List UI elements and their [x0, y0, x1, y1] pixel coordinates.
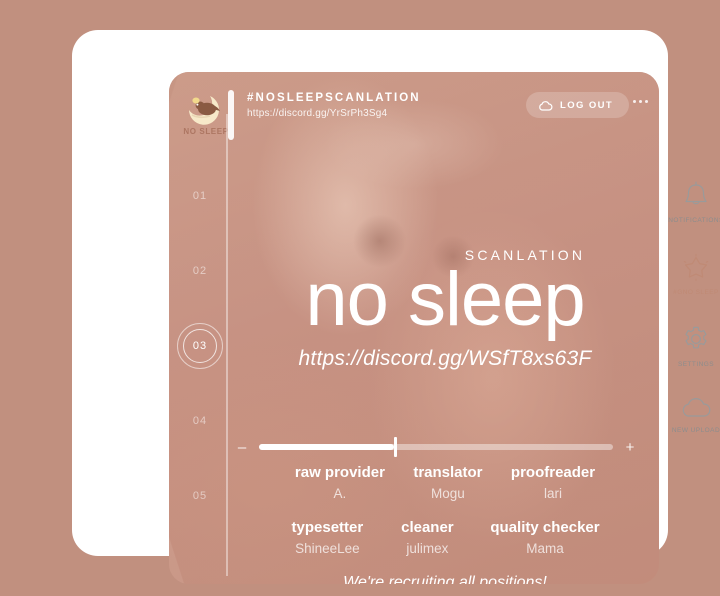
- tool-label: NEW UPLOAD: [672, 427, 720, 434]
- credit-name: Mogu: [411, 486, 485, 501]
- slider-decrease-button[interactable]: –: [235, 439, 249, 456]
- moon-character-logo-icon: [183, 92, 229, 126]
- channel-url[interactable]: https://discord.gg/YrSrPh3Sg4: [247, 108, 421, 119]
- step-ring-inner: [183, 329, 217, 363]
- credit-row: raw provider A. translator Mogu proofrea…: [231, 464, 659, 501]
- recruiting-emphasis[interactable]: all positions!: [459, 574, 547, 584]
- app-card: NO SLEEP #NOSLEEPSCANLATION https://disc…: [72, 30, 668, 556]
- credit-role: proofreader: [511, 464, 595, 481]
- slider-increase-button[interactable]: +: [623, 439, 637, 456]
- step-item-04[interactable]: 04: [169, 401, 231, 441]
- tool-item-notifications[interactable]: NOTIFICATIONS: [660, 180, 720, 224]
- gear-icon: [681, 324, 711, 354]
- step-number: 05: [193, 490, 207, 502]
- credits-section: raw provider A. translator Mogu proofrea…: [231, 464, 659, 584]
- hero-content: SCANLATION no sleep https://discord.gg/W…: [231, 247, 659, 371]
- header-divider: [228, 90, 234, 140]
- tool-rail: NOTIFICATIONS #GNO SLEEP SETTINGS N: [660, 180, 720, 462]
- ellipsis-icon-dot: [633, 100, 636, 103]
- slider-fill: [259, 444, 394, 450]
- hero-header: NO SLEEP #NOSLEEPSCANLATION https://disc…: [169, 72, 659, 144]
- credit-role: quality checker: [490, 519, 599, 536]
- brand-logo-text: NO SLEEP: [183, 127, 228, 136]
- credit-cell: quality checker Mama: [490, 519, 599, 556]
- hero-panel: NO SLEEP #NOSLEEPSCANLATION https://disc…: [169, 72, 659, 584]
- credit-name: Mama: [490, 541, 599, 556]
- tool-item-new-upload[interactable]: NEW UPLOAD: [660, 396, 720, 434]
- credit-cell: cleaner julimex: [390, 519, 464, 556]
- credit-role: translator: [411, 464, 485, 481]
- step-item-05[interactable]: 05: [169, 476, 231, 516]
- star-icon: [681, 252, 711, 282]
- more-menu-button[interactable]: [629, 96, 652, 107]
- tool-label: #GNO SLEEP: [673, 289, 719, 296]
- step-item-02[interactable]: 02: [169, 251, 231, 291]
- credit-cell: raw provider A.: [295, 464, 385, 501]
- step-item-03[interactable]: 03: [169, 326, 231, 366]
- zoom-slider[interactable]: – +: [235, 434, 637, 460]
- slider-thumb[interactable]: [394, 437, 397, 457]
- ellipsis-icon-dot: [639, 100, 642, 103]
- header-titles: #NOSLEEPSCANLATION https://discord.gg/Yr…: [247, 92, 421, 119]
- ellipsis-icon-dot: [645, 100, 648, 103]
- cloud-icon: [538, 100, 553, 111]
- slider-track[interactable]: [259, 444, 613, 450]
- credit-role: cleaner: [390, 519, 464, 536]
- step-rail: 01 02 03 04 05: [169, 176, 231, 576]
- credit-name: A.: [295, 486, 385, 501]
- credit-name: lari: [511, 486, 595, 501]
- channel-title: #NOSLEEPSCANLATION: [247, 92, 421, 104]
- credit-row: typesetter ShineeLee cleaner julimex qua…: [231, 519, 659, 556]
- step-number: 04: [193, 415, 207, 427]
- step-number: 02: [193, 265, 207, 277]
- recruiting-prefix: We're recruiting: [343, 574, 459, 584]
- credit-name: ShineeLee: [290, 541, 364, 556]
- hero-discord-link[interactable]: https://discord.gg/WSfT8xs63F: [231, 347, 659, 371]
- logout-label: LOG OUT: [560, 100, 613, 111]
- credit-name: julimex: [390, 541, 464, 556]
- step-item-01[interactable]: 01: [169, 176, 231, 216]
- tool-label: NOTIFICATIONS: [668, 217, 720, 224]
- step-number: 01: [193, 190, 207, 202]
- cloud-upload-icon: [679, 396, 713, 420]
- recruiting-banner: We're recruiting all positions!: [231, 574, 659, 584]
- credit-role: raw provider: [295, 464, 385, 481]
- tool-item-nosleep[interactable]: #GNO SLEEP: [660, 252, 720, 296]
- tool-label: SETTINGS: [678, 361, 714, 368]
- credit-cell: typesetter ShineeLee: [290, 519, 364, 556]
- tool-item-settings[interactable]: SETTINGS: [660, 324, 720, 368]
- credit-cell: proofreader lari: [511, 464, 595, 501]
- credit-role: typesetter: [290, 519, 364, 536]
- logout-button[interactable]: LOG OUT: [526, 92, 629, 118]
- bell-icon: [682, 180, 710, 210]
- hero-title: no sleep: [231, 265, 659, 335]
- credit-cell: translator Mogu: [411, 464, 485, 501]
